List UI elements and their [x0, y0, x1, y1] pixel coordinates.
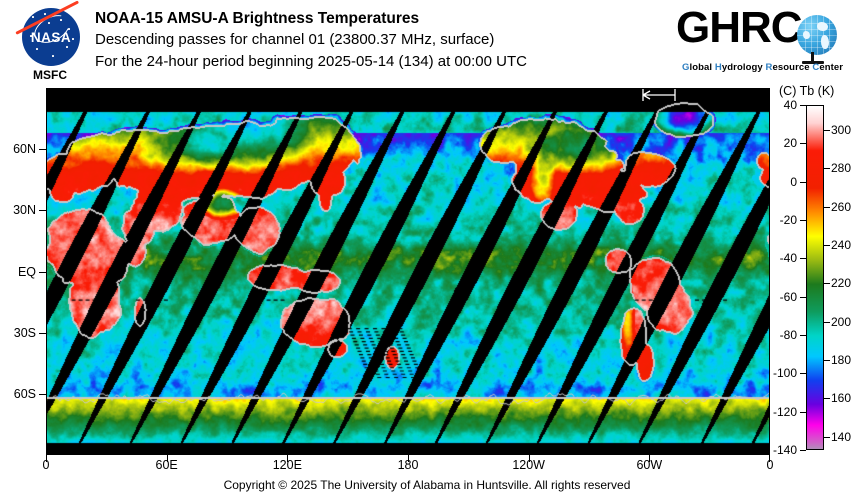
nasa-center-label: MSFC — [14, 68, 86, 82]
x-tick-label-4: 120W — [512, 458, 545, 472]
colorbar-celsius-tick — [800, 105, 806, 106]
colorbar-celsius-label-4: -40 — [780, 251, 797, 265]
ghrc-globe-icon — [797, 15, 837, 55]
colorbar-kelvin-label-2: 260 — [831, 200, 851, 214]
colorbar-kelvin-label-3: 240 — [831, 238, 851, 252]
colorbar-kelvin-label-1: 280 — [831, 161, 851, 175]
colorbar-celsius-tick — [800, 143, 806, 144]
ghrc-subtitle: Global Hydrology Resource Center — [682, 62, 843, 73]
colorbar-celsius-label-0: 40 — [784, 98, 797, 112]
colorbar-celsius-label-6: -80 — [780, 328, 797, 342]
colorbar-kelvin-tick — [824, 398, 830, 399]
colorbar-celsius-label-5: -60 — [780, 290, 797, 304]
colorbar-kelvin-label-6: 180 — [831, 353, 851, 367]
colorbar-celsius-label-3: -20 — [780, 213, 797, 227]
y-tick-label-4: 60S — [14, 387, 36, 401]
x-tick-label-5: 60W — [636, 458, 662, 472]
colorbar-kelvin-label-5: 200 — [831, 315, 851, 329]
colorbar-header: (C) Tb (K) — [779, 84, 834, 98]
visualization-root: NASA MSFC NOAA-15 AMSU-A Brightness Temp… — [0, 0, 854, 502]
colorbar-kelvin-tick — [824, 168, 830, 169]
x-tick-label-6: 0 — [767, 458, 774, 472]
colorbar-celsius-label-2: 0 — [790, 175, 797, 189]
colorbar-kelvin-label-4: 220 — [831, 276, 851, 290]
colorbar — [806, 105, 824, 450]
colorbar-kelvin-tick — [824, 130, 830, 131]
nasa-wordmark: NASA — [22, 30, 80, 45]
y-tick-label-0: 60N — [13, 142, 36, 156]
colorbar-kelvin-label-8: 140 — [831, 430, 851, 444]
colorbar-celsius-tick — [800, 258, 806, 259]
colorbar-kelvin-tick — [824, 283, 830, 284]
ghrc-wordmark: GHRC — [676, 4, 802, 52]
x-tick-label-0: 0 — [43, 458, 50, 472]
x-tick-label-1: 60E — [156, 458, 178, 472]
copyright-notice: Copyright © 2025 The University of Alaba… — [0, 478, 854, 492]
y-tick — [39, 333, 46, 334]
subtitle-channel: Descending passes for channel 01 (23800.… — [95, 29, 527, 51]
colorbar-gradient — [807, 106, 823, 449]
y-tick — [39, 272, 46, 273]
colorbar-kelvin-tick — [824, 360, 830, 361]
y-tick-label-2: EQ — [18, 265, 36, 279]
colorbar-kelvin-tick — [824, 322, 830, 323]
colorbar-celsius-tick — [800, 373, 806, 374]
page-title: NOAA-15 AMSU-A Brightness Temperatures — [95, 9, 527, 29]
colorbar-celsius-tick — [800, 412, 806, 413]
ghrc-logo: GHRC Global Hydrology Resource Center — [676, 4, 848, 78]
colorbar-celsius-tick — [800, 220, 806, 221]
colorbar-celsius-tick — [800, 182, 806, 183]
colorbar-celsius-label-9: -140 — [773, 443, 797, 457]
y-tick — [39, 149, 46, 150]
subtitle-period: For the 24-hour period beginning 2025-05… — [95, 51, 527, 73]
colorbar-kelvin-label-7: 160 — [831, 391, 851, 405]
colorbar-kelvin-tick — [824, 245, 830, 246]
y-tick — [39, 210, 46, 211]
y-tick — [39, 394, 46, 395]
colorbar-kelvin-tick — [824, 207, 830, 208]
header: NASA MSFC NOAA-15 AMSU-A Brightness Temp… — [0, 0, 854, 86]
colorbar-celsius-tick — [800, 450, 806, 451]
colorbar-kelvin-tick — [824, 437, 830, 438]
y-tick-label-3: 30S — [14, 326, 36, 340]
map-raster — [46, 88, 770, 455]
colorbar-celsius-label-1: 20 — [784, 136, 797, 150]
brightness-temperature-map[interactable] — [46, 88, 770, 455]
colorbar-celsius-label-7: -100 — [773, 366, 797, 380]
colorbar-kelvin-label-0: 300 — [831, 123, 851, 137]
x-tick-label-2: 120E — [273, 458, 302, 472]
y-tick-label-1: 30N — [13, 203, 36, 217]
nasa-logo: NASA MSFC — [14, 6, 86, 84]
title-block: NOAA-15 AMSU-A Brightness Temperatures D… — [95, 9, 527, 73]
colorbar-celsius-label-8: -120 — [773, 405, 797, 419]
x-tick-label-3: 180 — [398, 458, 419, 472]
colorbar-celsius-tick — [800, 335, 806, 336]
colorbar-celsius-tick — [800, 297, 806, 298]
